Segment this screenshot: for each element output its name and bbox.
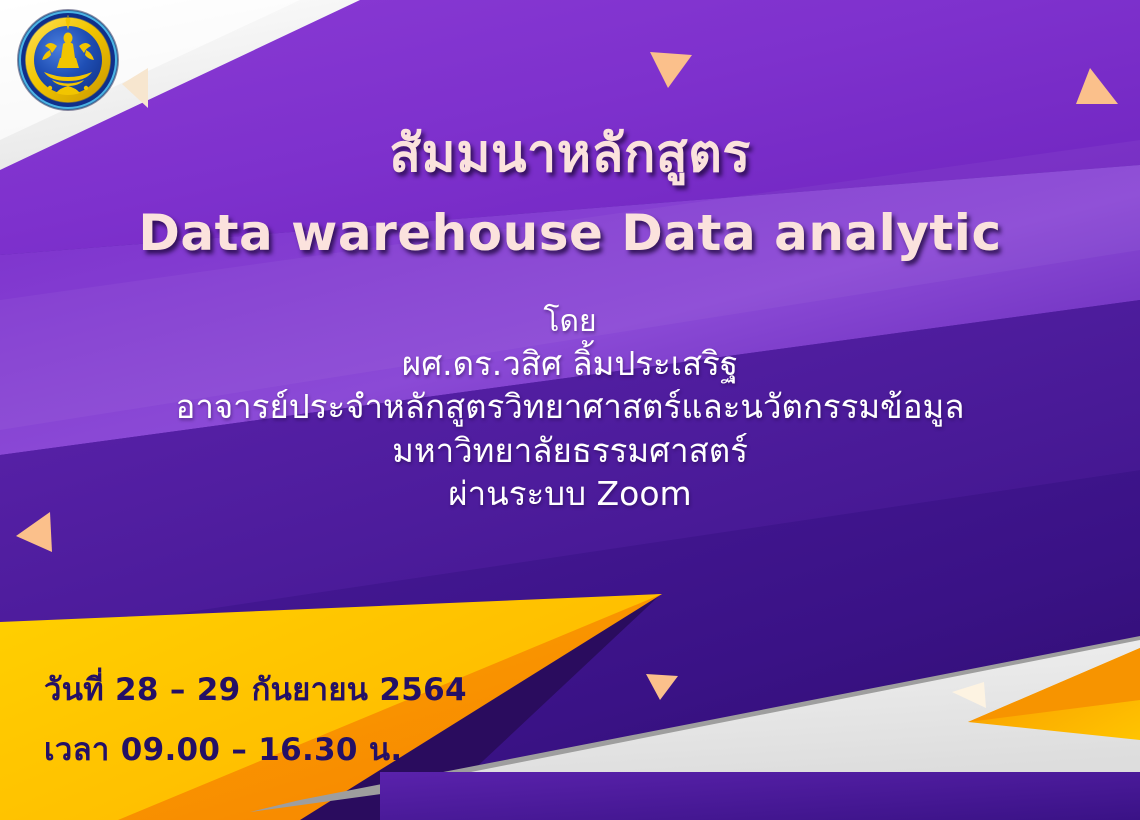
headline-english: Data warehouse Data analytic: [0, 208, 1140, 258]
platform-line: ผ่านระบบ Zoom: [0, 472, 1140, 516]
affiliation-line-1: อาจารย์ประจำหลักสูตรวิทยาศาสตร์และนวัตกร…: [0, 385, 1140, 429]
affiliation-line-2: มหาวิทยาลัยธรรมศาสตร์: [0, 429, 1140, 473]
headline-block: สัมมนาหลักสูตร Data warehouse Data analy…: [0, 128, 1140, 258]
schedule-date: วันที่ 28 – 29 กันยายน 2564: [44, 660, 467, 720]
headline-thai: สัมมนาหลักสูตร: [0, 128, 1140, 180]
poster-content: สัมมนาหลักสูตร Data warehouse Data analy…: [0, 0, 1140, 820]
schedule-time: เวลา 09.00 – 16.30 น.: [44, 720, 467, 780]
by-label: โดย: [0, 302, 1140, 342]
poster-canvas: สัมมนาหลักสูตร Data warehouse Data analy…: [0, 0, 1140, 820]
schedule-block: วันที่ 28 – 29 กันยายน 2564 เวลา 09.00 –…: [44, 660, 467, 781]
speaker-name: ผศ.ดร.วสิศ ลิ้มประเสริฐ: [0, 342, 1140, 386]
speaker-block: โดย ผศ.ดร.วสิศ ลิ้มประเสริฐ อาจารย์ประจำ…: [0, 302, 1140, 516]
